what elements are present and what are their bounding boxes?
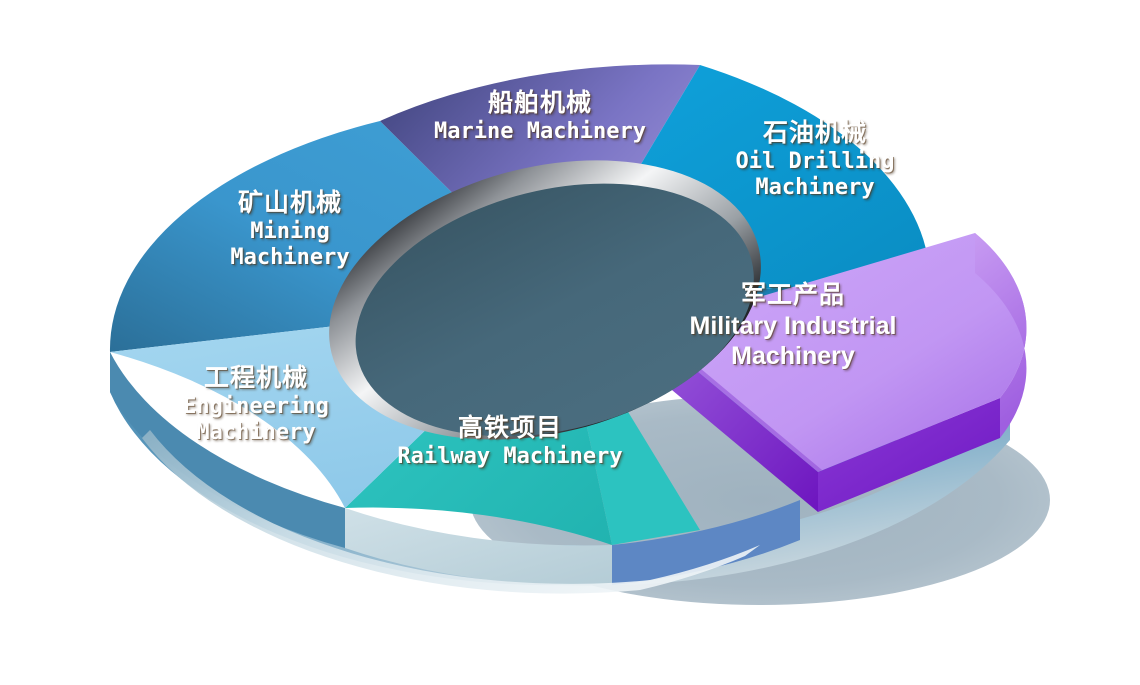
label-segment-oil-drilling[interactable]: 石油机械 Oil Drilling Machinery <box>690 118 940 202</box>
diagram-canvas: 矿山机械 Mining Machinery 船舶机械 Marine Machin… <box>0 0 1140 685</box>
label-marine-en-1: Marine Machinery <box>395 119 685 146</box>
label-segment-marine[interactable]: 船舶机械 Marine Machinery <box>395 88 685 145</box>
label-oil-en-2: Machinery <box>690 175 940 202</box>
label-oil-cn: 石油机械 <box>690 118 940 149</box>
label-segment-military[interactable]: 军工产品 Military Industrial Machinery <box>668 280 918 372</box>
label-engineering-en-2: Machinery <box>150 420 362 447</box>
label-military-en-2: Machinery <box>668 341 918 372</box>
label-segment-railway[interactable]: 高铁项目 Railway Machinery <box>380 413 640 470</box>
label-railway-cn: 高铁项目 <box>380 413 640 444</box>
label-engineering-cn: 工程机械 <box>150 363 362 394</box>
label-military-en-1: Military Industrial <box>668 311 918 342</box>
label-mining-en-1: Mining <box>200 219 380 246</box>
label-mining-cn: 矿山机械 <box>200 188 380 219</box>
label-railway-en-1: Railway Machinery <box>380 444 640 471</box>
label-mining-en-2: Machinery <box>200 245 380 272</box>
label-segment-engineering[interactable]: 工程机械 Engineering Machinery <box>150 363 362 447</box>
label-segment-mining[interactable]: 矿山机械 Mining Machinery <box>200 188 380 272</box>
label-engineering-en-1: Engineering <box>150 394 362 421</box>
label-marine-cn: 船舶机械 <box>395 88 685 119</box>
label-oil-en-1: Oil Drilling <box>690 149 940 176</box>
label-military-cn: 军工产品 <box>668 280 918 311</box>
